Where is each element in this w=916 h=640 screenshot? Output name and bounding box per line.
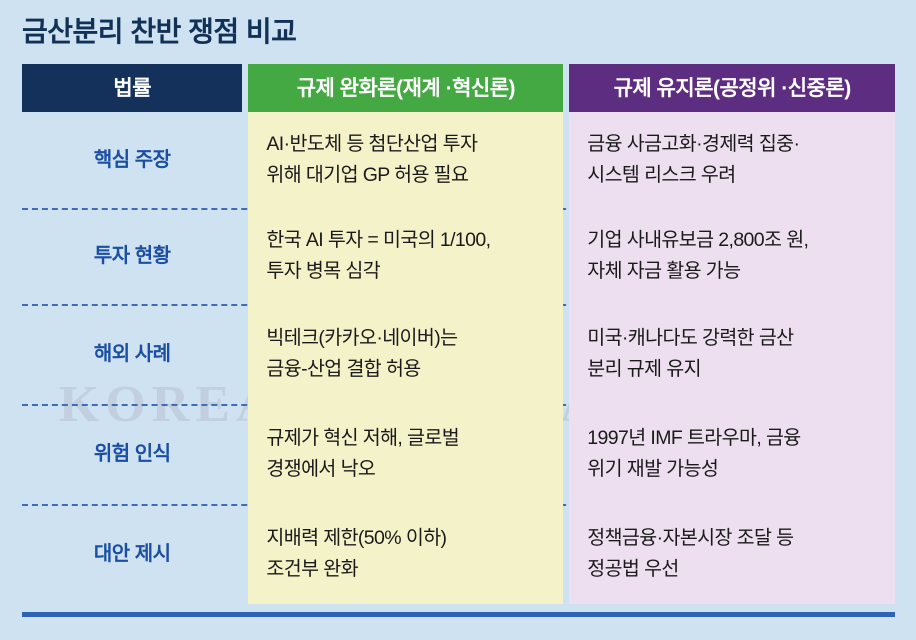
row-cell-maintain: 금융 사금고화·경제력 집중· 시스템 리스크 우려 <box>569 112 895 208</box>
table-body: 핵심 주장 AI·반도체 등 첨단산업 투자 위해 대기업 GP 허용 필요 금… <box>22 112 895 604</box>
row-cell-maintain: 1997년 IMF 트라우마, 금융 위기 재발 가능성 <box>569 404 895 504</box>
comparison-table: 법률 규제 완화론(재계 ·혁신론) 규제 유지론(공정위 ·신중론) 핵심 주… <box>22 64 895 604</box>
table-header-row: 법률 규제 완화론(재계 ·혁신론) 규제 유지론(공정위 ·신중론) <box>22 64 895 112</box>
row-label: 위험 인식 <box>22 404 242 504</box>
row-cell-deregulation: 규제가 혁신 저해, 글로벌 경쟁에서 낙오 <box>248 404 563 504</box>
table-row: 대안 제시 지배력 제한(50% 이하) 조건부 완화 정책금융·자본시장 조달… <box>22 504 895 604</box>
row-label: 대안 제시 <box>22 504 242 604</box>
column-header-maintain: 규제 유지론(공정위 ·신중론) <box>569 64 895 112</box>
table-row: 투자 현황 한국 AI 투자 = 미국의 1/100, 투자 병목 심각 기업 … <box>22 208 895 304</box>
row-label: 해외 사례 <box>22 304 242 404</box>
page-title: 금산분리 찬반 쟁점 비교 <box>22 12 296 52</box>
row-cell-deregulation: 빅테크(카카오·네이버)는 금융-산업 결합 허용 <box>248 304 563 404</box>
table-row: 핵심 주장 AI·반도체 등 첨단산업 투자 위해 대기업 GP 허용 필요 금… <box>22 112 895 208</box>
table-row: 해외 사례 빅테크(카카오·네이버)는 금융-산업 결합 허용 미국·캐나다도 … <box>22 304 895 404</box>
row-cell-maintain: 미국·캐나다도 강력한 금산 분리 규제 유지 <box>569 304 895 404</box>
row-cell-maintain: 정책금융·자본시장 조달 등 정공법 우선 <box>569 504 895 604</box>
bottom-divider <box>22 612 895 617</box>
column-header-deregulation: 규제 완화론(재계 ·혁신론) <box>248 64 563 112</box>
row-label: 핵심 주장 <box>22 112 242 208</box>
infographic-root: K KOREA FINANCIAL TIMES 금산분리 찬반 쟁점 비교 법률… <box>0 0 916 640</box>
row-cell-deregulation: 지배력 제한(50% 이하) 조건부 완화 <box>248 504 563 604</box>
row-cell-maintain: 기업 사내유보금 2,800조 원, 자체 자금 활용 가능 <box>569 208 895 304</box>
row-cell-deregulation: 한국 AI 투자 = 미국의 1/100, 투자 병목 심각 <box>248 208 563 304</box>
table-row: 위험 인식 규제가 혁신 저해, 글로벌 경쟁에서 낙오 1997년 IMF 트… <box>22 404 895 504</box>
column-header-law: 법률 <box>22 64 242 112</box>
row-cell-deregulation: AI·반도체 등 첨단산업 투자 위해 대기업 GP 허용 필요 <box>248 112 563 208</box>
row-label: 투자 현황 <box>22 208 242 304</box>
